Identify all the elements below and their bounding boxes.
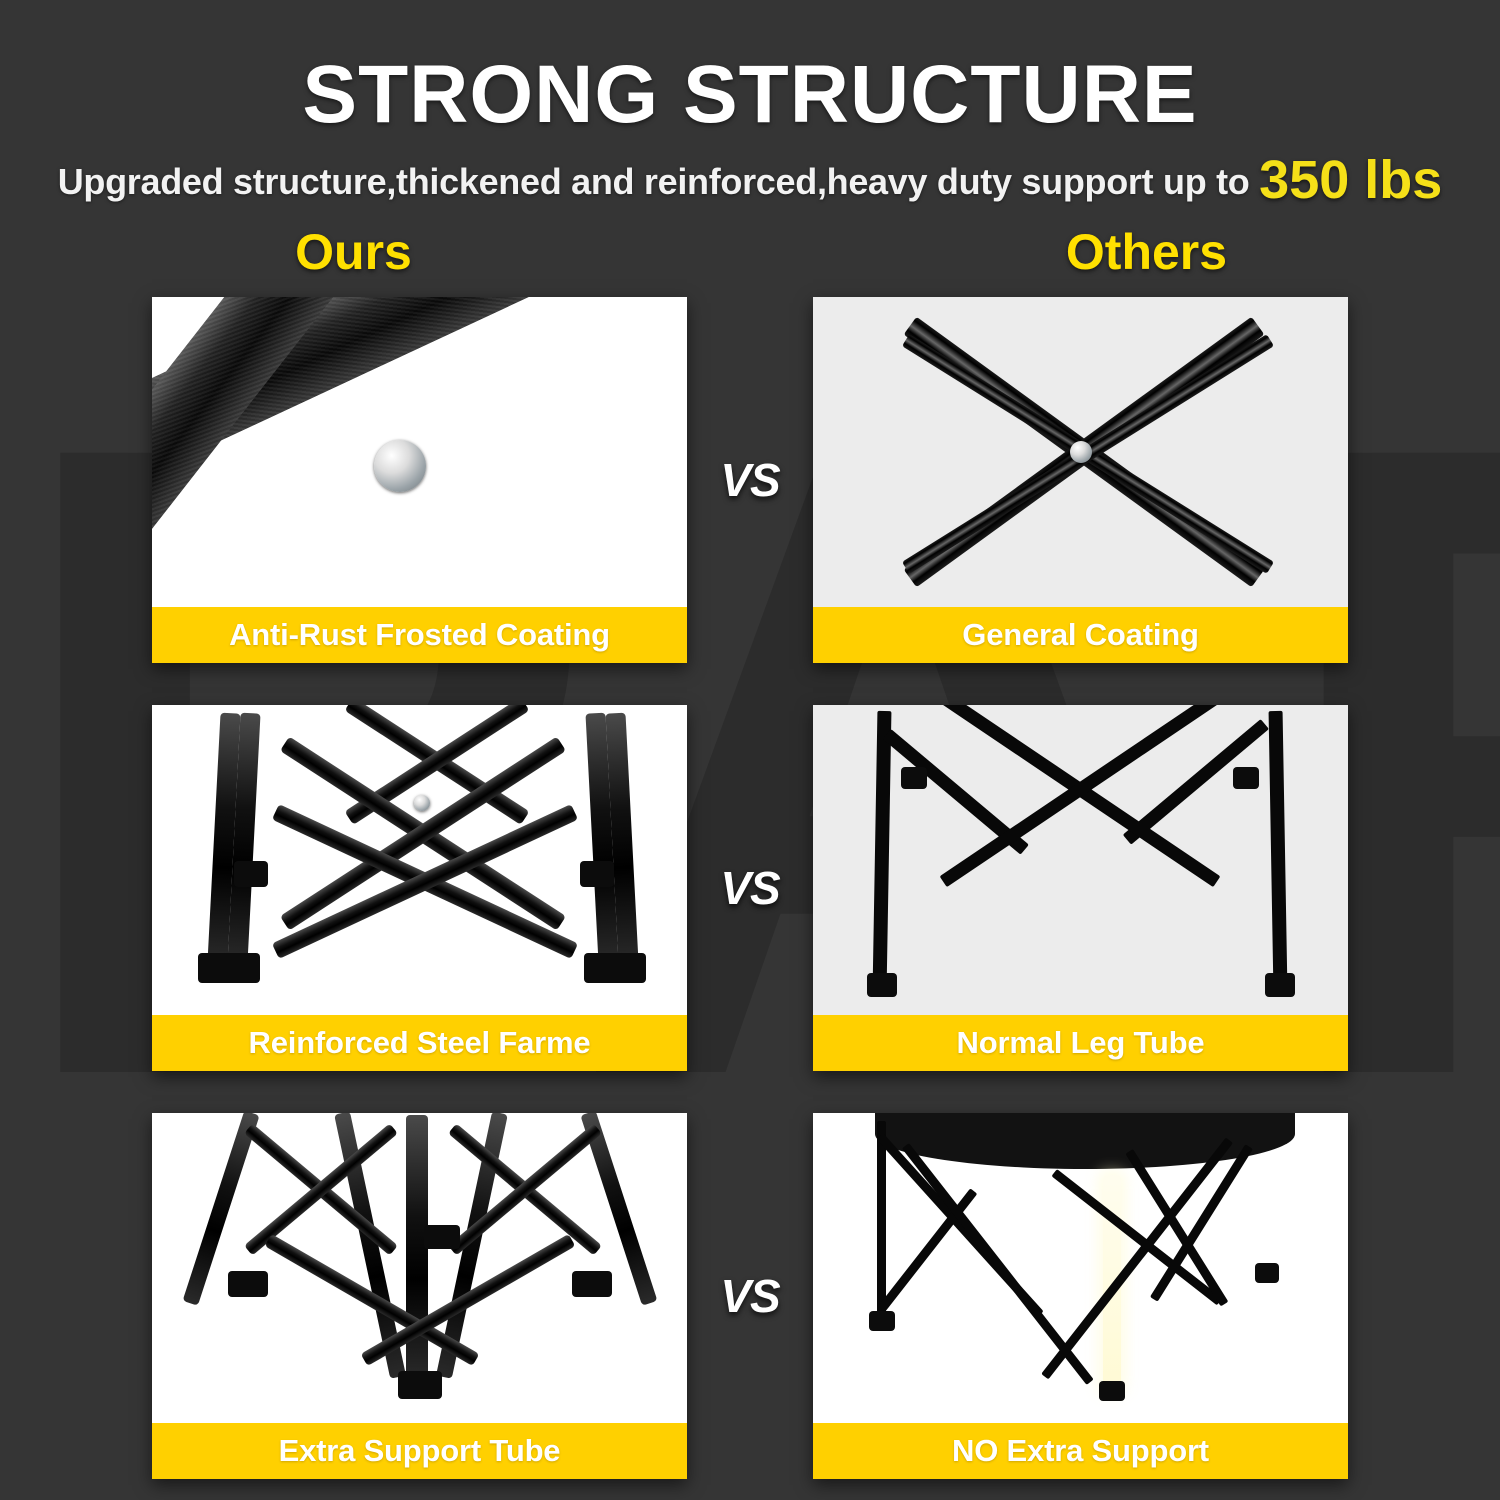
panel-others-coating: General Coating — [813, 297, 1348, 663]
cell-others-support: NO Extra Support — [813, 1113, 1348, 1479]
cell-ours-frame: Reinforced Steel Farme — [152, 705, 687, 1071]
panel-others-support: NO Extra Support — [813, 1113, 1348, 1479]
comparison-row-coating: Anti-Rust Frosted Coating VS General Coa… — [152, 297, 1348, 663]
caption-others-frame: Normal Leg Tube — [813, 1015, 1348, 1071]
panel-others-frame: Normal Leg Tube — [813, 705, 1348, 1071]
comparison-grid: Anti-Rust Frosted Coating VS General Coa… — [152, 297, 1348, 1479]
vs-separator-row2: VS — [687, 861, 813, 915]
photo-no-extra-support — [813, 1113, 1348, 1423]
page-title: STRONG STRUCTURE — [0, 52, 1500, 137]
caption-ours-support: Extra Support Tube — [152, 1423, 687, 1479]
subtitle-text: Upgraded structure,thickened and reinfor… — [58, 161, 1250, 202]
caption-others-coating: General Coating — [813, 607, 1348, 663]
comparison-row-frame: Reinforced Steel Farme VS Normal Leg — [152, 705, 1348, 1071]
photo-anti-rust-frosted-coating — [152, 297, 687, 607]
foot-cap-icon — [228, 1271, 268, 1297]
cell-others-coating: General Coating — [813, 297, 1348, 663]
panel-ours-coating: Anti-Rust Frosted Coating — [152, 297, 687, 663]
foot-cap-icon — [198, 953, 260, 983]
foot-cap-icon — [1099, 1381, 1125, 1401]
panel-ours-support: Extra Support Tube — [152, 1113, 687, 1479]
column-headings: Ours Others — [0, 221, 1500, 283]
vs-separator-row3: VS — [687, 1269, 813, 1323]
rivet-icon — [414, 795, 430, 811]
weight-capacity-highlight: 350 lbs — [1259, 150, 1442, 210]
photo-normal-leg-tube — [813, 705, 1348, 1015]
photo-general-coating — [813, 297, 1348, 607]
column-heading-others: Others — [793, 221, 1500, 283]
foot-cap-icon — [584, 953, 646, 983]
cell-ours-coating: Anti-Rust Frosted Coating — [152, 297, 687, 663]
cell-others-frame: Normal Leg Tube — [813, 705, 1348, 1071]
header: STRONG STRUCTURE Upgraded structure,thic… — [0, 0, 1500, 211]
foot-cap-icon — [869, 1311, 895, 1331]
column-heading-ours: Ours — [0, 221, 707, 283]
panel-ours-frame: Reinforced Steel Farme — [152, 705, 687, 1071]
photo-reinforced-steel-frame — [152, 705, 687, 1015]
foot-cap-icon — [572, 1271, 612, 1297]
vs-separator-row1: VS — [687, 453, 813, 507]
caption-ours-coating: Anti-Rust Frosted Coating — [152, 607, 687, 663]
comparison-row-support: Extra Support Tube VS — [152, 1113, 1348, 1479]
page-subtitle: Upgraded structure,thickened and reinfor… — [0, 149, 1500, 211]
cell-ours-support: Extra Support Tube — [152, 1113, 687, 1479]
caption-others-support: NO Extra Support — [813, 1423, 1348, 1479]
caption-ours-frame: Reinforced Steel Farme — [152, 1015, 687, 1071]
foot-cap-icon — [1265, 973, 1295, 997]
rivet-icon — [374, 440, 426, 492]
foot-cap-icon — [398, 1371, 442, 1399]
foot-cap-icon — [867, 973, 897, 997]
foot-cap-icon — [1255, 1263, 1279, 1283]
photo-extra-support-tube — [152, 1113, 687, 1423]
